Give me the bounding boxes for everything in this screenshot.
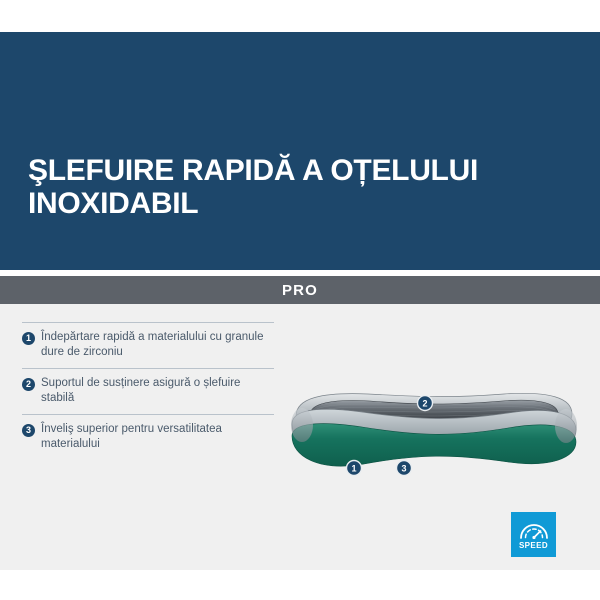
page-title: ŞLEFUIRE RAPIDĂ A OȚELULUI INOXIDABIL [28, 154, 573, 220]
list-item: 1 Îndepărtare rapidă a materialului cu g… [22, 322, 274, 368]
feature-text: Îndepărtare rapidă a materialului cu gra… [41, 330, 274, 360]
belt-marker-3-label: 3 [401, 463, 406, 473]
belt-marker-3: 3 [397, 461, 412, 476]
speed-badge-label: SPEED [519, 541, 548, 550]
belt-marker-2: 2 [418, 396, 433, 411]
product-image: 2 1 3 [282, 380, 582, 490]
feature-number-badge: 1 [22, 332, 35, 345]
content-area: 1 Îndepărtare rapidă a materialului cu g… [0, 304, 600, 570]
product-info-card: ŞLEFUIRE RAPIDĂ A OȚELULUI INOXIDABIL PR… [0, 0, 600, 600]
speed-badge: SPEED [511, 512, 556, 557]
speedometer-icon [518, 520, 550, 540]
feature-number-badge: 3 [22, 424, 35, 437]
belt-right-end [555, 409, 577, 443]
list-item: 2 Suportul de susținere asigură o șlefui… [22, 368, 274, 414]
belt-marker-1: 1 [347, 461, 362, 476]
belt-marker-2-label: 2 [422, 398, 427, 408]
belt-left-end [291, 408, 313, 442]
feature-text: Suportul de susținere asigură o șlefuire… [41, 376, 274, 406]
pro-label-bar: PRO [0, 276, 600, 304]
feature-text: Înveliş superior pentru versatilitatea m… [41, 422, 274, 452]
hero-banner: ŞLEFUIRE RAPIDĂ A OȚELULUI INOXIDABIL [0, 32, 600, 270]
list-item: 3 Înveliş superior pentru versatilitatea… [22, 414, 274, 460]
feature-list: 1 Îndepărtare rapidă a materialului cu g… [22, 322, 274, 460]
belt-marker-1-label: 1 [351, 463, 356, 473]
sanding-belt-illustration: 2 1 3 [282, 380, 582, 490]
feature-number-badge: 2 [22, 378, 35, 391]
pro-label: PRO [282, 282, 318, 299]
